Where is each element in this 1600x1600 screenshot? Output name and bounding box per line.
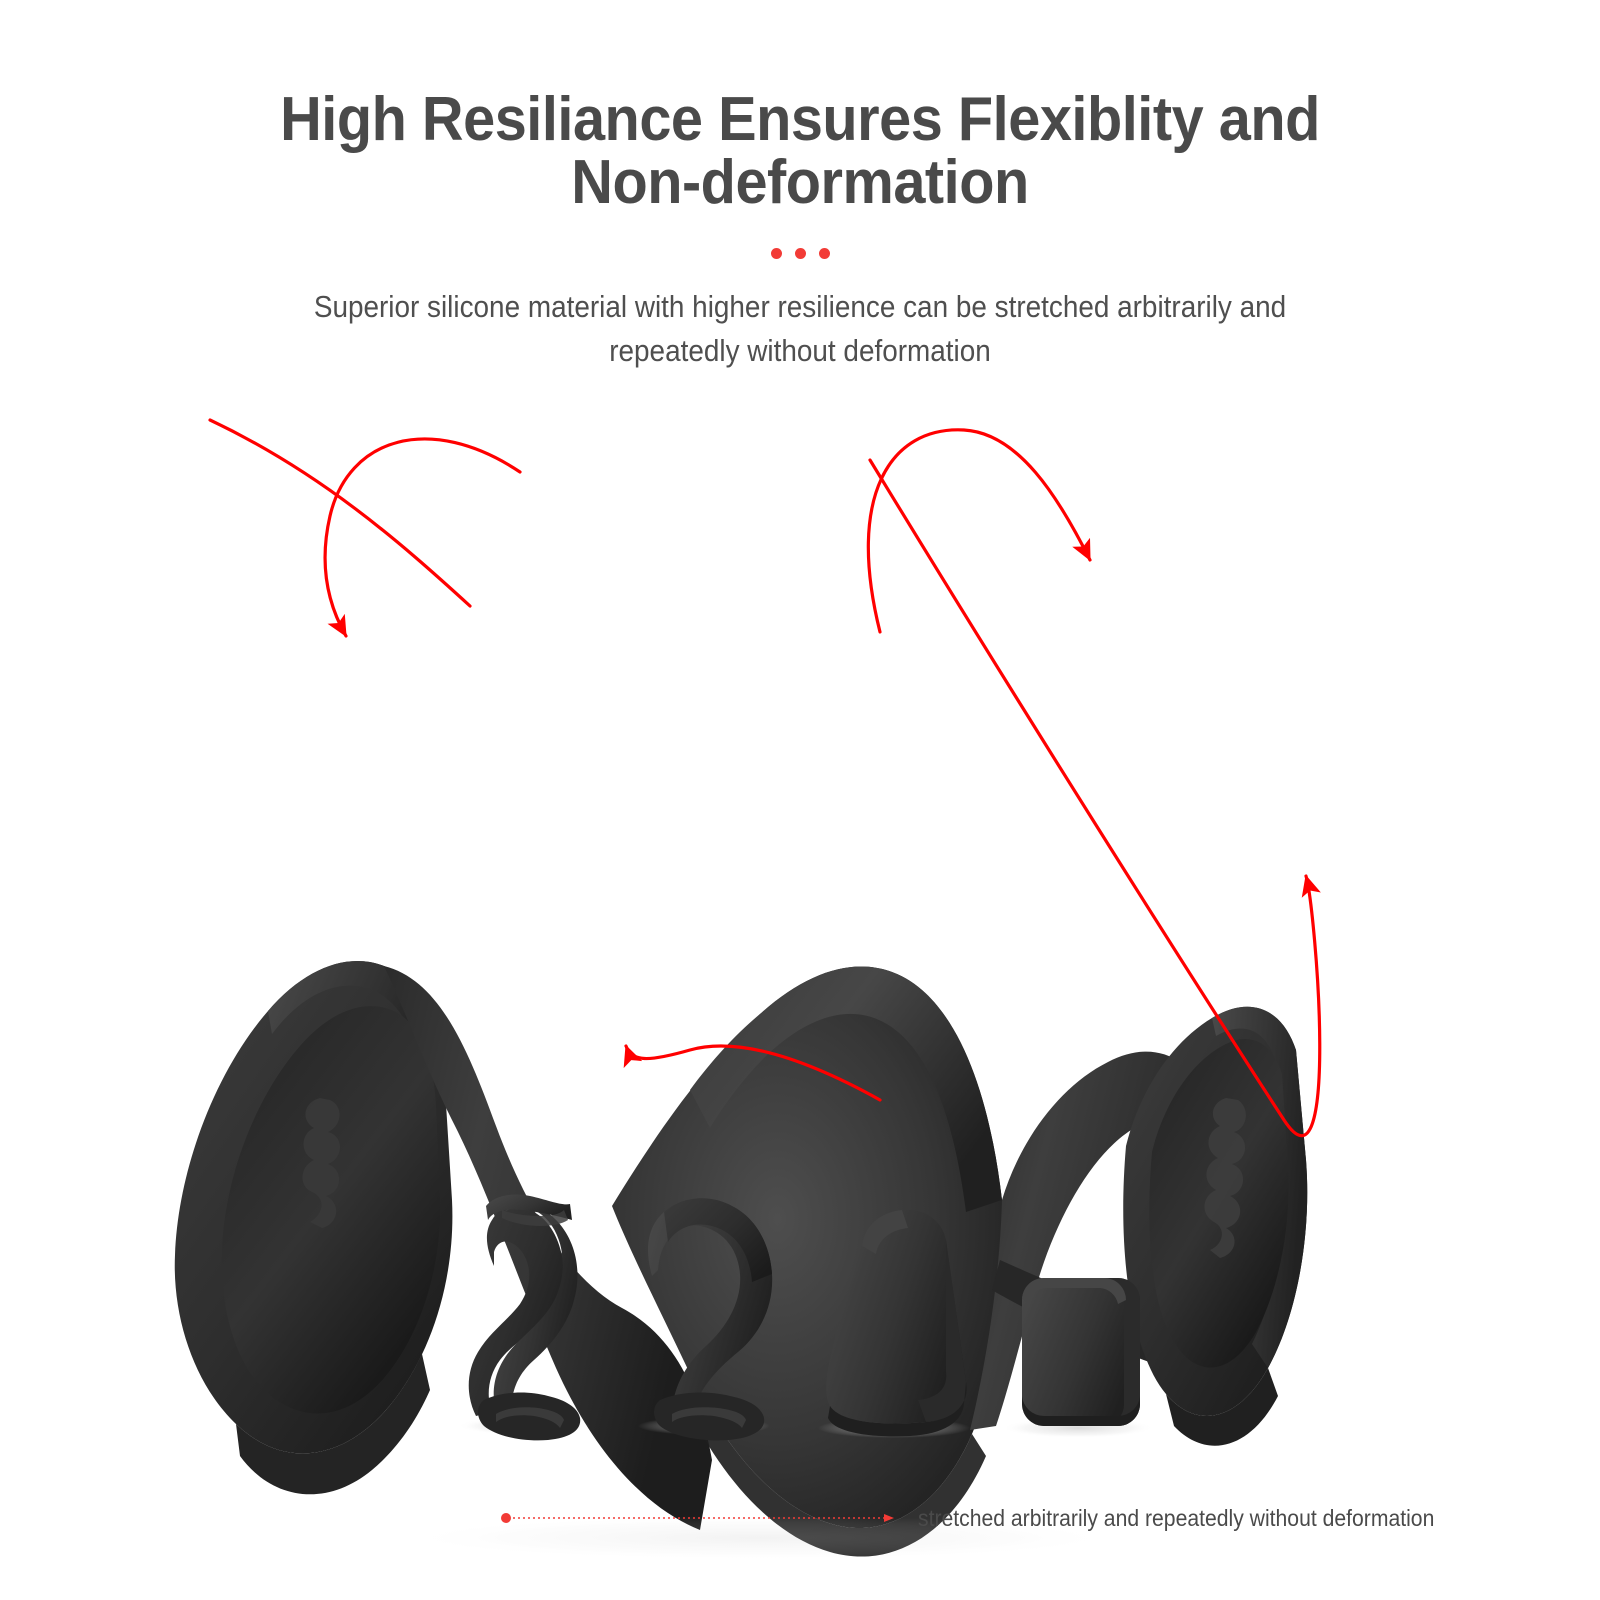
divider-dot	[795, 248, 806, 259]
stretch-arrow-start-dot	[501, 1513, 511, 1523]
arrow-top-right	[868, 430, 1090, 632]
variant-flat	[1022, 1278, 1140, 1426]
arrow-top-mid	[210, 420, 470, 606]
product-stage	[0, 400, 1600, 1600]
stretch-caption: stretched arbitrarily and repeatedly wit…	[918, 1505, 1434, 1532]
divider-dot	[819, 248, 830, 259]
page-subtitle: Superior silicone material with higher r…	[80, 285, 1520, 373]
variant-double-twist	[469, 1194, 580, 1440]
divider-dots	[760, 248, 840, 259]
page-title: High Resiliance Ensures Flexiblity and N…	[56, 0, 1544, 214]
header-block: High Resiliance Ensures Flexiblity and N…	[0, 0, 1600, 374]
arrow-top-left	[325, 439, 520, 636]
stretch-arrow	[500, 1507, 900, 1529]
divider-dot	[771, 248, 782, 259]
stretch-indicator: stretched arbitrarily and repeatedly wit…	[500, 1496, 1500, 1540]
